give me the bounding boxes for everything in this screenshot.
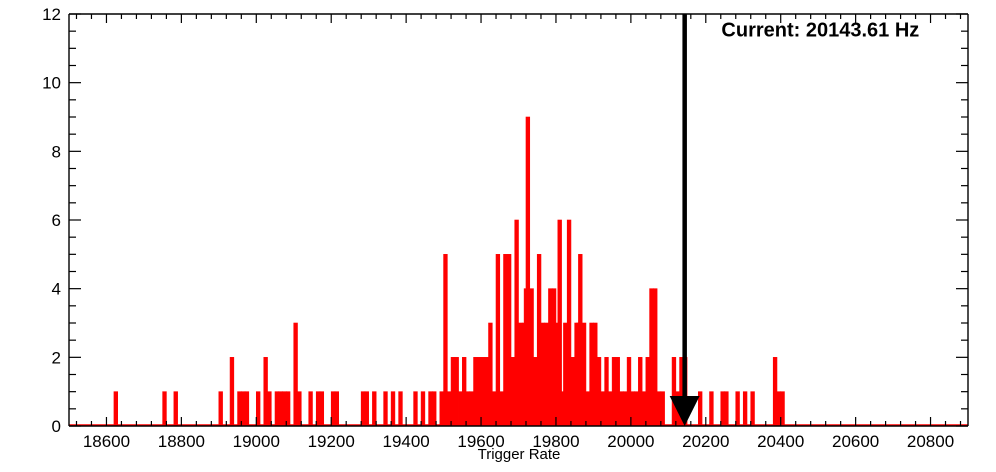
histogram-bar (455, 357, 459, 426)
histogram-bar (736, 392, 740, 426)
histogram-bar (511, 357, 515, 426)
histogram-bar (230, 357, 234, 426)
x-tick-label: 20800 (907, 432, 954, 451)
y-tick-label: 6 (52, 211, 61, 230)
histogram-bar (335, 392, 339, 426)
histogram-bar (414, 392, 418, 426)
histogram-bar (578, 254, 582, 426)
x-tick-label: 20400 (757, 432, 804, 451)
histogram-bar (548, 289, 552, 426)
x-tick-label: 20000 (607, 432, 654, 451)
histogram-bar (298, 392, 302, 426)
histogram-bar (623, 392, 627, 426)
histogram-bar (537, 254, 541, 426)
y-tick-label: 0 (52, 417, 61, 436)
histogram-bar (558, 220, 562, 426)
histogram-bar (504, 254, 508, 426)
histogram-bar (245, 392, 249, 426)
histogram-bar (294, 323, 298, 426)
histogram-canvas: 1860018800190001920019400196001980020000… (0, 0, 996, 472)
histogram-bar (470, 392, 474, 426)
histogram-bar (163, 392, 167, 426)
histogram-bar (515, 220, 519, 426)
histogram-bar (642, 392, 646, 426)
histogram-bar (421, 392, 425, 426)
histogram-bar (541, 323, 545, 426)
histogram-bar (444, 254, 448, 426)
histogram-bar (526, 117, 530, 426)
histogram-bar (316, 392, 320, 426)
histogram-bar (507, 254, 511, 426)
histogram-bar (459, 392, 463, 426)
histogram-bar (601, 392, 605, 426)
histogram-bar (399, 392, 403, 426)
histogram-bar (638, 357, 642, 426)
histogram-bar (174, 392, 178, 426)
histogram-bar (751, 392, 755, 426)
histogram-bar (608, 392, 612, 426)
histogram-bar (593, 323, 597, 426)
histogram-bar (365, 392, 369, 426)
histogram-bar (635, 392, 639, 426)
x-tick-label: 19000 (233, 432, 280, 451)
histogram-bar (773, 357, 777, 426)
histogram-bar (616, 357, 620, 426)
histogram-bar (627, 357, 631, 426)
histogram-bar (477, 357, 481, 426)
histogram-bar (530, 289, 534, 426)
histogram-bar (552, 289, 556, 426)
histogram-bar (650, 289, 654, 426)
histogram-bar (384, 392, 388, 426)
histogram-bar (481, 357, 485, 426)
x-tick-label: 20600 (832, 432, 879, 451)
histogram-bar (309, 392, 313, 426)
histogram-bar (440, 392, 444, 426)
histogram-bar (286, 392, 290, 426)
histogram-bar (283, 392, 287, 426)
histogram-bar (466, 392, 470, 426)
histogram-bar (646, 357, 650, 426)
histogram-bar (432, 392, 436, 426)
histogram-bar (241, 392, 245, 426)
histogram-bar (563, 323, 567, 426)
histogram-bar (586, 392, 590, 426)
histogram-bar (320, 392, 324, 426)
x-tick-label: 18600 (83, 432, 130, 451)
histogram-bar (496, 254, 500, 426)
histogram-bar (743, 392, 747, 426)
x-tick-label: 18800 (158, 432, 205, 451)
y-tick-label: 10 (42, 74, 61, 93)
histogram-bar (710, 392, 714, 426)
histogram-bar (661, 392, 665, 426)
histogram-bar (489, 323, 493, 426)
histogram-bar (238, 392, 242, 426)
histogram-bar (361, 392, 365, 426)
histogram-bar (451, 357, 455, 426)
histogram-bar (590, 323, 594, 426)
histogram-bar (429, 392, 433, 426)
y-tick-label: 2 (52, 348, 61, 367)
histogram-bar (725, 392, 729, 426)
histogram-bar (620, 392, 624, 426)
histogram-bar (545, 323, 549, 426)
histogram-bar (268, 392, 272, 426)
y-tick-label: 12 (42, 5, 61, 24)
histogram-bar (485, 357, 489, 426)
histogram-bar (672, 357, 676, 426)
histogram-bar (275, 392, 279, 426)
histogram-bar (264, 357, 268, 426)
histogram-bar (492, 392, 496, 426)
y-tick-label: 8 (52, 142, 61, 161)
x-tick-label: 19400 (382, 432, 429, 451)
current-rate-label: Current: 20143.61 Hz (721, 19, 919, 41)
histogram-bar (500, 392, 504, 426)
histogram-bar (474, 357, 478, 426)
histogram-bar (657, 392, 661, 426)
histogram-bar (533, 357, 537, 426)
histogram-bar (571, 357, 575, 426)
histogram-bar (612, 357, 616, 426)
x-tick-label: 19200 (308, 432, 355, 451)
histogram-bar (447, 392, 451, 426)
histogram-bar (653, 289, 657, 426)
histogram-bar (219, 392, 223, 426)
x-tick-label: 20200 (682, 432, 729, 451)
histogram-bar (372, 392, 376, 426)
histogram-bar (597, 357, 601, 426)
histogram-bar (391, 392, 395, 426)
histogram-bar (114, 392, 118, 426)
histogram-bar (605, 357, 609, 426)
histogram-bar (519, 323, 523, 426)
histogram-bar (721, 392, 725, 426)
histogram-bar (462, 357, 466, 426)
x-axis-title: Trigger Rate (478, 446, 561, 463)
histogram-bar (582, 323, 586, 426)
histogram-bar (279, 392, 283, 426)
y-tick-label: 4 (52, 280, 61, 299)
trigger-rate-histogram: 1860018800190001920019400196001980020000… (0, 0, 996, 472)
